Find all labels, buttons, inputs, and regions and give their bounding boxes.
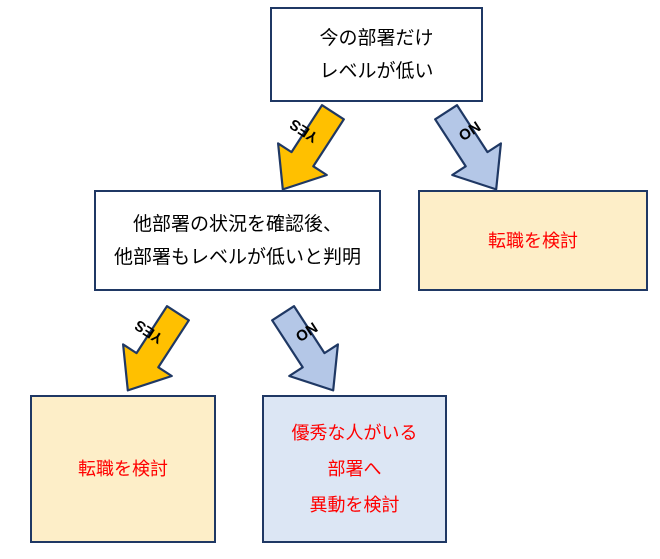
node-other-dept-also-low-line-2: 他部署もレベルが低いと判明 [114,248,361,267]
flowchart-canvas: 今の部署だけ レベルが低い YES NO 他部署の状況を確認後、 他部署もレベル… [0,0,660,559]
node-root-question-line-2: レベルが低い [319,62,433,81]
node-consider-transfer-line-1: 優秀な人がいる [292,424,418,442]
arrow-no-1-icon [425,95,529,199]
node-consider-transfer-line-2: 部署へ [328,460,382,478]
node-root-question[interactable]: 今の部署だけ レベルが低い [270,7,483,102]
node-other-dept-also-low[interactable]: 他部署の状況を確認後、 他部署もレベルが低いと判明 [94,190,381,291]
node-consider-job-change-bottom-line-1: 転職を検討 [78,460,168,478]
arrow-yes-2[interactable] [95,296,199,400]
node-root-question-line-1: 今の部署だけ [319,29,433,48]
node-other-dept-also-low-line-1: 他部署の状況を確認後、 [133,215,342,234]
node-consider-transfer[interactable]: 優秀な人がいる 部署へ 異動を検討 [262,395,447,543]
node-consider-job-change-bottom[interactable]: 転職を検討 [30,395,216,543]
arrow-no-1[interactable] [425,95,529,199]
arrow-yes-2-icon [95,296,199,400]
arrow-yes-1[interactable] [250,95,354,199]
arrow-no-2[interactable] [262,296,366,400]
node-consider-job-change-right[interactable]: 転職を検討 [418,190,648,291]
node-consider-transfer-line-3: 異動を検討 [310,496,400,514]
arrow-yes-1-icon [250,95,354,199]
arrow-no-2-icon [262,296,366,400]
node-consider-job-change-right-line-1: 転職を検討 [488,232,578,250]
